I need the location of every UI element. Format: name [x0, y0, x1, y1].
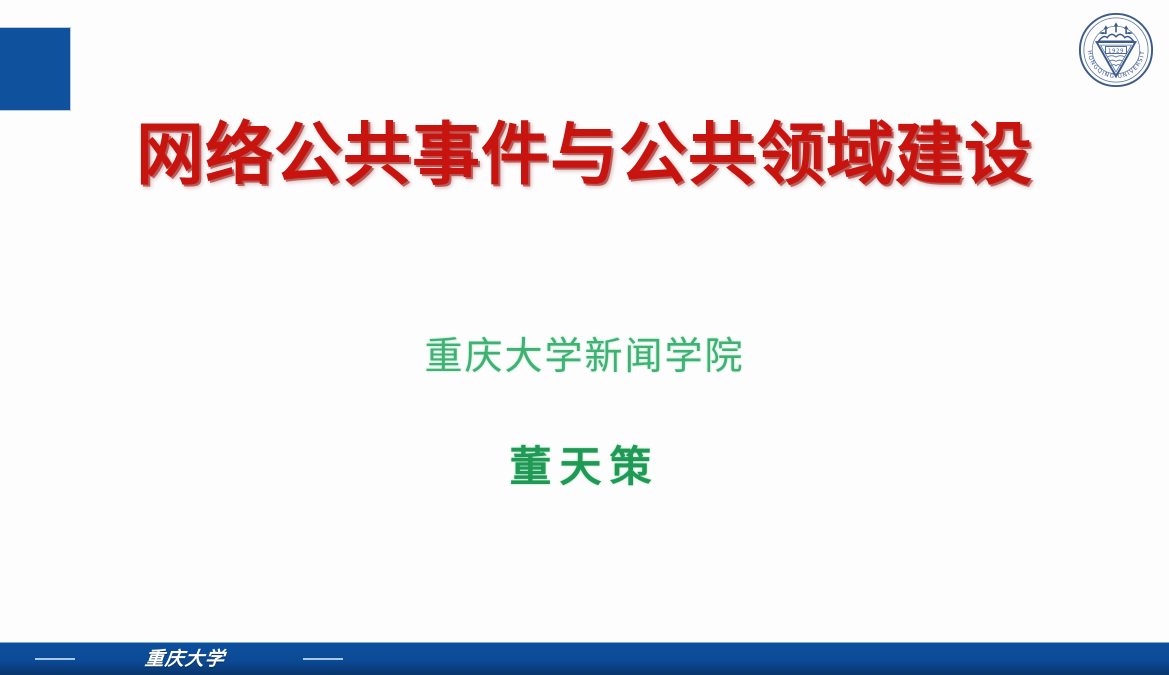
footer-dash-right: [303, 658, 343, 660]
corner-accent-block: [0, 28, 70, 110]
slide-author: 董天策: [0, 433, 1169, 494]
svg-text:1929: 1929: [1108, 48, 1124, 54]
slide-title: 网络公共事件与公共领域建设: [0, 118, 1169, 194]
footer-bar: 重庆大学: [0, 642, 1169, 675]
slide-affiliation: 重庆大学新闻学院: [0, 325, 1169, 380]
presentation-slide: CHONGQING UNIVERSITY 1929 网络公共: [0, 0, 1169, 675]
chongqing-university-seal-icon: CHONGQING UNIVERSITY 1929: [1072, 6, 1160, 94]
footer-dash-left: [35, 658, 75, 660]
footer-university-wordmark: 重庆大学: [144, 650, 226, 669]
